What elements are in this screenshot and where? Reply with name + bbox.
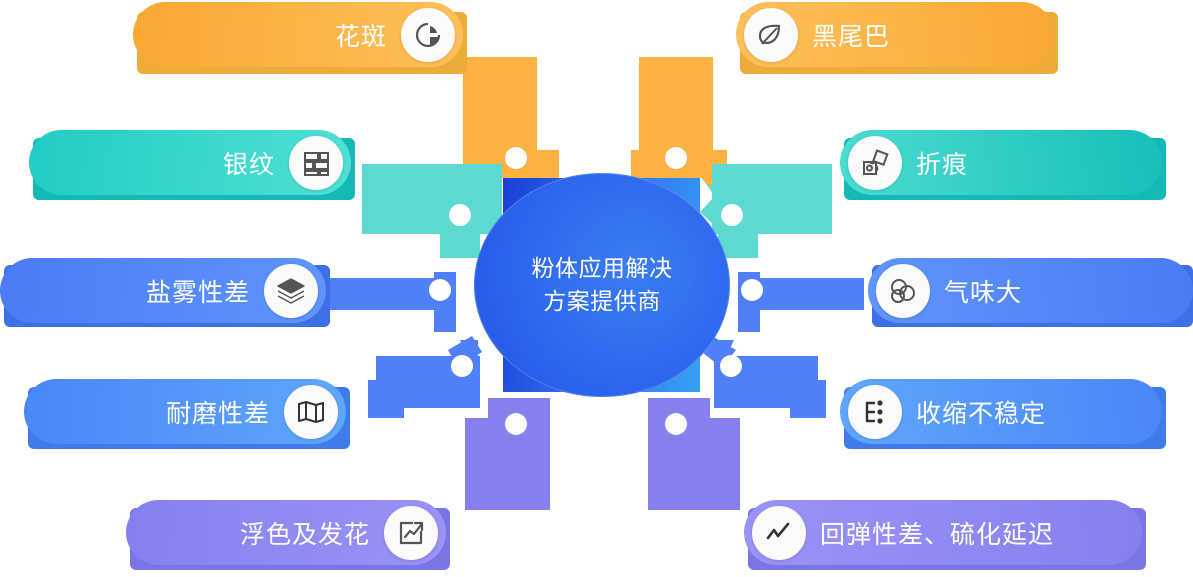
node-nai-mo-xing-cha[interactable]: 耐磨性差 xyxy=(24,379,346,444)
node-zhe-hen[interactable]: 折痕 xyxy=(840,130,1162,195)
puzzle-piece-icon xyxy=(848,136,902,190)
map-book-icon xyxy=(284,385,338,439)
node-zhe-hen-label: 折痕 xyxy=(916,145,968,181)
node-fu-se-ji-fa-hua-label: 浮色及发花 xyxy=(240,515,370,551)
node-nai-mo-xing-cha-label: 耐磨性差 xyxy=(166,394,270,430)
recycle-icon xyxy=(876,264,930,318)
trending-up-box-icon xyxy=(384,506,438,560)
node-hui-tan-xing-cha-label: 回弹性差、硫化延迟 xyxy=(820,515,1054,551)
node-qi-wei-da-label: 气味大 xyxy=(944,273,1022,309)
connector-row2-left xyxy=(362,164,502,258)
sitemap-icon xyxy=(848,385,902,439)
connector-row4-left xyxy=(368,336,482,418)
connector-row3-left xyxy=(330,272,456,332)
node-yin-wen-label: 银纹 xyxy=(223,145,275,181)
line-chart-circle-icon xyxy=(752,506,806,560)
leaf-icon xyxy=(744,8,798,62)
node-yan-wu-xing-cha[interactable]: 盐雾性差 xyxy=(0,258,326,323)
node-hua-ban-label: 花斑 xyxy=(335,17,387,53)
connector-row5-left xyxy=(465,398,550,510)
node-hei-wei-ba-label: 黑尾巴 xyxy=(812,17,890,53)
node-qi-wei-da[interactable]: 气味大 xyxy=(868,258,1193,323)
center-node-label: 粉体应用解决 方案提供商 xyxy=(507,252,697,318)
pie-chart-icon xyxy=(401,8,455,62)
connector-row3-right xyxy=(738,272,864,332)
node-yin-wen[interactable]: 银纹 xyxy=(29,130,351,195)
node-hua-ban[interactable]: 花斑 xyxy=(133,2,463,67)
diagram-canvas: 粉体应用解决 方案提供商 花斑 黑尾巴 银纹 xyxy=(0,0,1193,577)
node-shou-suo-bu-wen-ding[interactable]: 收缩不稳定 xyxy=(840,379,1162,444)
node-fu-se-ji-fa-hua[interactable]: 浮色及发花 xyxy=(126,500,446,565)
brick-wall-icon xyxy=(289,136,343,190)
node-shou-suo-bu-wen-ding-label: 收缩不稳定 xyxy=(916,394,1046,430)
layers-icon xyxy=(264,264,318,318)
connector-row4-right xyxy=(702,336,826,418)
connector-row5-right xyxy=(648,398,740,510)
node-hui-tan-xing-cha[interactable]: 回弹性差、硫化延迟 xyxy=(744,500,1142,565)
node-yan-wu-xing-cha-label: 盐雾性差 xyxy=(146,273,250,309)
node-hei-wei-ba[interactable]: 黑尾巴 xyxy=(736,2,1054,67)
center-node[interactable]: 粉体应用解决 方案提供商 xyxy=(474,173,730,397)
